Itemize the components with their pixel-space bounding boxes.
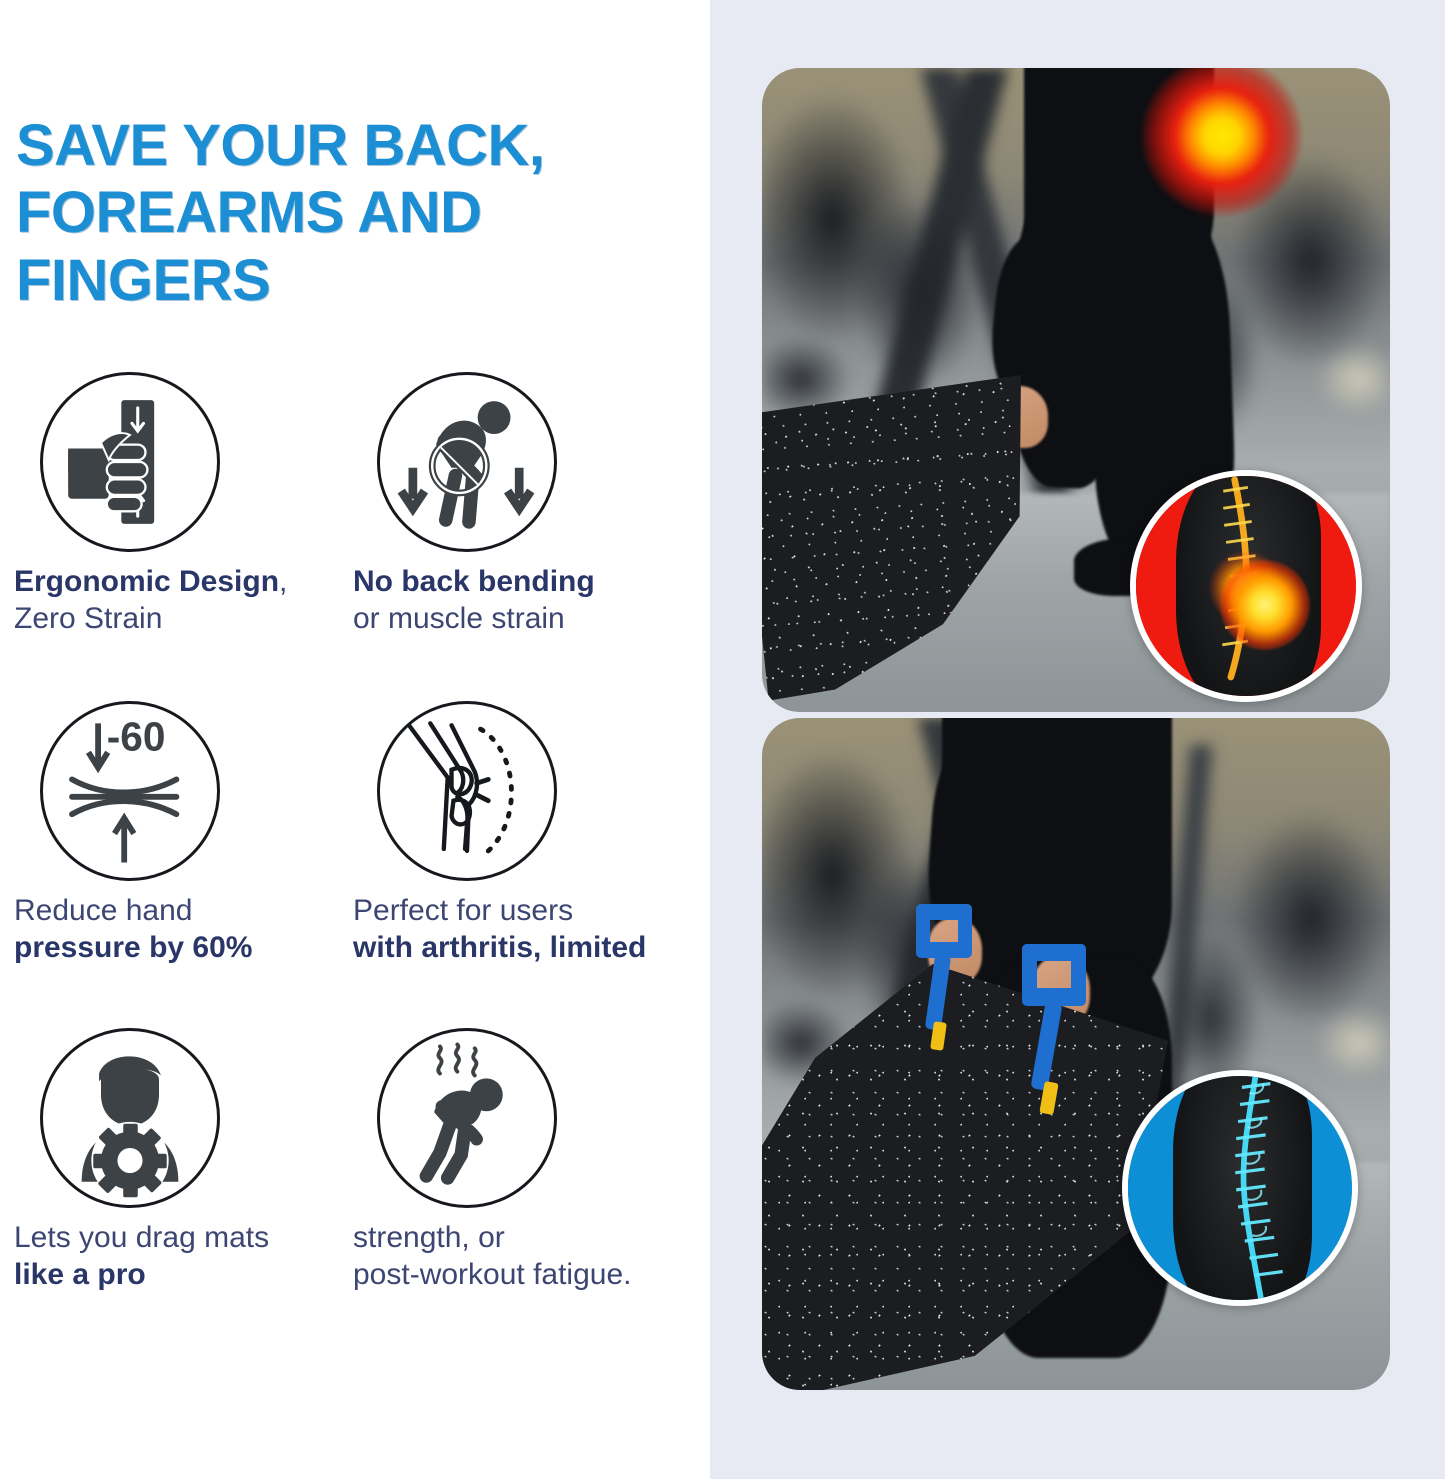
feature-row: Lets you drag mats like a pro: [0, 1028, 710, 1293]
feature-line-2: or muscle strain: [353, 601, 710, 638]
inset-blue-spine-xray: [1122, 1070, 1358, 1306]
feature-line-1: Reduce hand: [14, 893, 355, 930]
inset-red-spine-xray: [1130, 470, 1362, 702]
feature-line-2: pressure by 60%: [14, 930, 355, 967]
feature-row: -60 Reduce hand pressure by 60%: [0, 701, 710, 966]
feature-line-2: like a pro: [14, 1257, 355, 1294]
headline-line-2: FOREARMS AND: [16, 179, 696, 246]
headline-line-3: FINGERS: [16, 247, 696, 314]
infographic-page: SAVE YOUR BACK, FOREARMS AND FINGERS: [0, 0, 1445, 1479]
feature-caption: strength, or post-workout fatigue.: [353, 1220, 710, 1293]
page-headline: SAVE YOUR BACK, FOREARMS AND FINGERS: [16, 112, 696, 314]
person-gear-icon: [40, 1028, 220, 1208]
feature-caption: Ergonomic Design, Zero Strain: [14, 564, 355, 637]
feature-row: Ergonomic Design, Zero Strain: [0, 372, 710, 637]
feature-ergonomic-design: Ergonomic Design, Zero Strain: [0, 372, 355, 637]
feature-line-2: post-workout fatigue.: [353, 1257, 710, 1294]
feature-drag-like-a-pro: Lets you drag mats like a pro: [0, 1028, 355, 1293]
feature-line-1: Ergonomic Design: [14, 565, 279, 598]
feature-no-back-bending: No back bending or muscle strain: [355, 372, 710, 637]
feature-line-1: strength, or: [353, 1220, 710, 1257]
mat-gripper-tool-right: [1020, 944, 1098, 1120]
svg-text:-60: -60: [107, 714, 166, 760]
fatigued-person-icon: [377, 1028, 557, 1208]
feature-line-1: Perfect for users: [353, 893, 710, 930]
feature-line-1: No back bending: [353, 564, 710, 601]
feature-caption: Reduce hand pressure by 60%: [14, 893, 355, 966]
feature-caption: No back bending or muscle strain: [353, 564, 710, 637]
feature-line-1: Lets you drag mats: [14, 1220, 355, 1257]
feature-caption: Lets you drag mats like a pro: [14, 1220, 355, 1293]
pressure-reduction-icon: -60: [40, 701, 220, 881]
hand-grip-icon: [40, 372, 220, 552]
feature-line-2: with arthritis, limited: [353, 930, 710, 967]
pain-hotspot: [1220, 560, 1310, 650]
headline-line-1: SAVE YOUR BACK,: [16, 112, 696, 179]
mat-gripper-tool-left: [914, 904, 980, 1054]
left-content-panel: SAVE YOUR BACK, FOREARMS AND FINGERS: [0, 0, 710, 1479]
no-back-bending-icon: [377, 372, 557, 552]
feature-reduce-pressure: -60 Reduce hand pressure by 60%: [0, 701, 355, 966]
feature-line-2: Zero Strain: [14, 601, 355, 638]
feature-arthritis-friendly: Perfect for users with arthritis, limite…: [355, 701, 710, 966]
panel-divider-gap: [710, 0, 762, 1479]
feature-post-workout-fatigue: strength, or post-workout fatigue.: [355, 1028, 710, 1293]
feature-grid: Ergonomic Design, Zero Strain: [0, 372, 710, 1294]
knee-joint-icon: [377, 701, 557, 881]
feature-line-1-suffix: ,: [279, 565, 287, 598]
feature-caption: Perfect for users with arthritis, limite…: [353, 893, 710, 966]
